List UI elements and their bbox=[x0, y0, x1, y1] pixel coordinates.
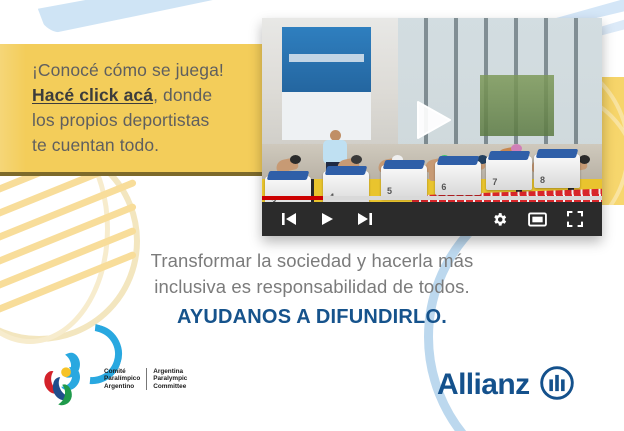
block-pad bbox=[267, 171, 310, 180]
block-pad bbox=[383, 160, 426, 169]
message-cta: AYUDANOS A DIFUNDIRLO. bbox=[0, 306, 624, 329]
play-icon[interactable] bbox=[314, 206, 340, 232]
block-pad bbox=[488, 151, 531, 160]
cpa-es-line-1: Comité bbox=[104, 368, 140, 376]
callout-shade bbox=[0, 44, 26, 172]
cpa-en-line-1: Argentina bbox=[153, 368, 187, 376]
message-line-2: inclusiva es responsabilidad de todos. bbox=[0, 274, 624, 300]
paralympic-agitos-icon bbox=[36, 348, 98, 410]
progress-played bbox=[262, 196, 323, 200]
play-icon[interactable] bbox=[404, 99, 460, 141]
callout-line-3: los propios deportistas bbox=[32, 108, 252, 133]
comite-paralimpico-argentino-logo: Comité Paralímpico Argentino Argentina P… bbox=[36, 346, 216, 412]
cpa-logo-text: Comité Paralímpico Argentino Argentina P… bbox=[104, 368, 187, 391]
cpa-text-divider bbox=[146, 368, 147, 390]
fullscreen-icon[interactable] bbox=[562, 206, 588, 232]
callout-line-1: ¡Conocé cómo se juega! bbox=[32, 58, 252, 83]
callout-line-4: te cuentan todo. bbox=[32, 133, 252, 158]
player-controls bbox=[262, 202, 602, 236]
allianz-wordmark: Allianz bbox=[437, 368, 529, 402]
starting-block: 6 bbox=[435, 161, 481, 195]
starting-block: 7 bbox=[486, 156, 532, 190]
block-number: 7 bbox=[492, 177, 497, 187]
allianz-logo: Allianz bbox=[437, 364, 575, 406]
callout-text-3: los propios deportistas bbox=[32, 110, 209, 130]
cpa-es-line-2: Paralímpico bbox=[104, 375, 140, 383]
block-pad bbox=[536, 149, 579, 158]
next-icon[interactable] bbox=[352, 206, 378, 232]
cpa-text-en: Argentina Paralympic Committee bbox=[153, 368, 187, 391]
poster-banner-blue bbox=[282, 27, 370, 92]
starting-block: 5 bbox=[381, 165, 427, 199]
callout-card[interactable]: ¡Conocé cómo se juega! Hacé click acá, d… bbox=[0, 44, 274, 176]
cpa-en-line-2: Paralympic bbox=[153, 375, 187, 383]
callout-line-2: Hacé click acá, donde bbox=[32, 83, 252, 108]
block-number: 5 bbox=[387, 186, 392, 196]
poster-foliage bbox=[480, 75, 555, 136]
starting-block: 8 bbox=[534, 154, 580, 188]
callout-click-link[interactable]: Hacé click acá bbox=[32, 85, 153, 105]
gear-icon[interactable] bbox=[486, 206, 512, 232]
block-number: 8 bbox=[540, 175, 545, 185]
swimmer-cap bbox=[579, 155, 590, 164]
cpa-en-line-3: Committee bbox=[153, 383, 187, 391]
swimmer-cap bbox=[290, 155, 301, 164]
progress-bar[interactable] bbox=[262, 196, 602, 200]
promo-banner: ¡Conocé cómo se juega! Hacé click acá, d… bbox=[0, 0, 624, 431]
block-pad bbox=[437, 156, 480, 165]
callout-text-2: , donde bbox=[153, 85, 212, 105]
message-block: Transformar la sociedad y hacerla más in… bbox=[0, 248, 624, 329]
message-line-1: Transformar la sociedad y hacerla más bbox=[0, 248, 624, 274]
allianz-bars-icon bbox=[539, 365, 575, 406]
previous-icon[interactable] bbox=[276, 206, 302, 232]
block-number: 6 bbox=[441, 182, 446, 192]
video-player[interactable]: 3 4 5 6 7 8 bbox=[262, 18, 602, 236]
cpa-es-line-3: Argentino bbox=[104, 383, 140, 391]
miniplayer-icon[interactable] bbox=[524, 206, 550, 232]
cpa-text-es: Comité Paralímpico Argentino bbox=[104, 368, 140, 391]
callout-text-4: te cuentan todo. bbox=[32, 135, 159, 155]
callout-text-1: ¡Conocé cómo se juega! bbox=[32, 60, 224, 80]
block-pad bbox=[325, 166, 368, 175]
decor-blue-swoosh-top-left bbox=[36, 0, 214, 35]
starting-block: 4 bbox=[323, 171, 369, 205]
